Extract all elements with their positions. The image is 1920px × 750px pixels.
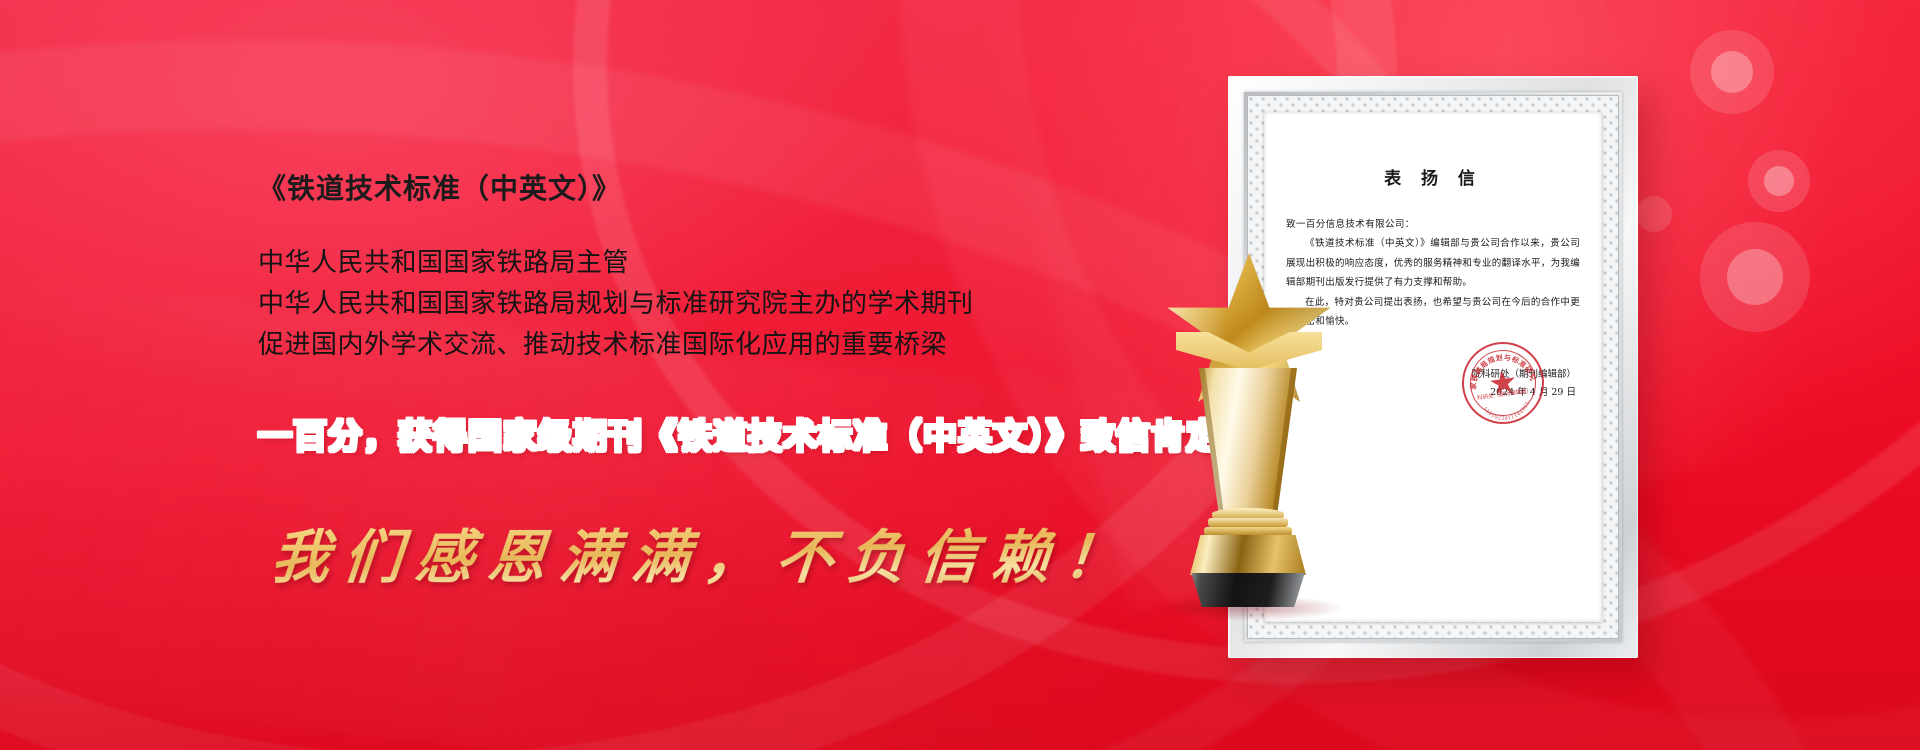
official-seal-icon: 国家铁路局规划与标准研究院 科研处（期刊编辑部） 110102291114495… bbox=[1457, 337, 1550, 430]
headline: 一百分，获得国家级期刊《铁道技术标准（中英文）》致信肯定! bbox=[258, 409, 1158, 458]
bubble-ring-inner bbox=[1764, 166, 1794, 196]
certificate-salutation: 致一百分信息技术有限公司： bbox=[1286, 215, 1580, 234]
award-banner: 《铁道技术标准（中英文）》 中华人民共和国国家铁路局主管 中华人民共和国国家铁路… bbox=[0, 0, 1920, 750]
bubble-lower-right bbox=[1700, 222, 1810, 332]
gold-star-trophy-icon bbox=[1146, 250, 1346, 570]
seal-star-icon bbox=[1488, 368, 1517, 397]
sub-line-3: 促进国内外学术交流、推动技术标准国际化应用的重要桥梁 bbox=[258, 324, 1158, 365]
sub-line-2: 中华人民共和国国家铁路局规划与标准研究院主办的学术期刊 bbox=[258, 283, 1158, 324]
trophy-base-gold bbox=[1190, 535, 1306, 575]
text-column: 《铁道技术标准（中英文）》 中华人民共和国国家铁路局主管 中华人民共和国国家铁路… bbox=[258, 172, 1158, 594]
journal-title: 《铁道技术标准（中英文）》 bbox=[258, 172, 1158, 206]
bubble-ring-inner bbox=[1711, 51, 1753, 93]
calligraphy-slogan: 我们感恩满满，不负信赖！ bbox=[268, 510, 1161, 594]
bubble-ring-inner bbox=[1727, 249, 1783, 305]
trophy-collar-upper bbox=[1208, 518, 1288, 527]
sub-lines-group: 中华人民共和国国家铁路局主管 中华人民共和国国家铁路局规划与标准研究院主办的学术… bbox=[258, 242, 1158, 365]
trophy-collar-lower bbox=[1204, 527, 1292, 536]
trophy-base-black bbox=[1182, 573, 1314, 607]
seal-bottom-text: 1101022911144955 bbox=[1459, 339, 1547, 427]
sub-line-1: 中华人民共和国国家铁路局主管 bbox=[258, 242, 1158, 283]
bubble-mid-right bbox=[1748, 150, 1810, 212]
bubble-top-right bbox=[1690, 30, 1774, 114]
svg-text:1101022911144955: 1101022911144955 bbox=[1481, 400, 1533, 425]
bubble-small-right bbox=[1636, 196, 1672, 232]
certificate-title: 表 扬 信 bbox=[1286, 164, 1580, 189]
